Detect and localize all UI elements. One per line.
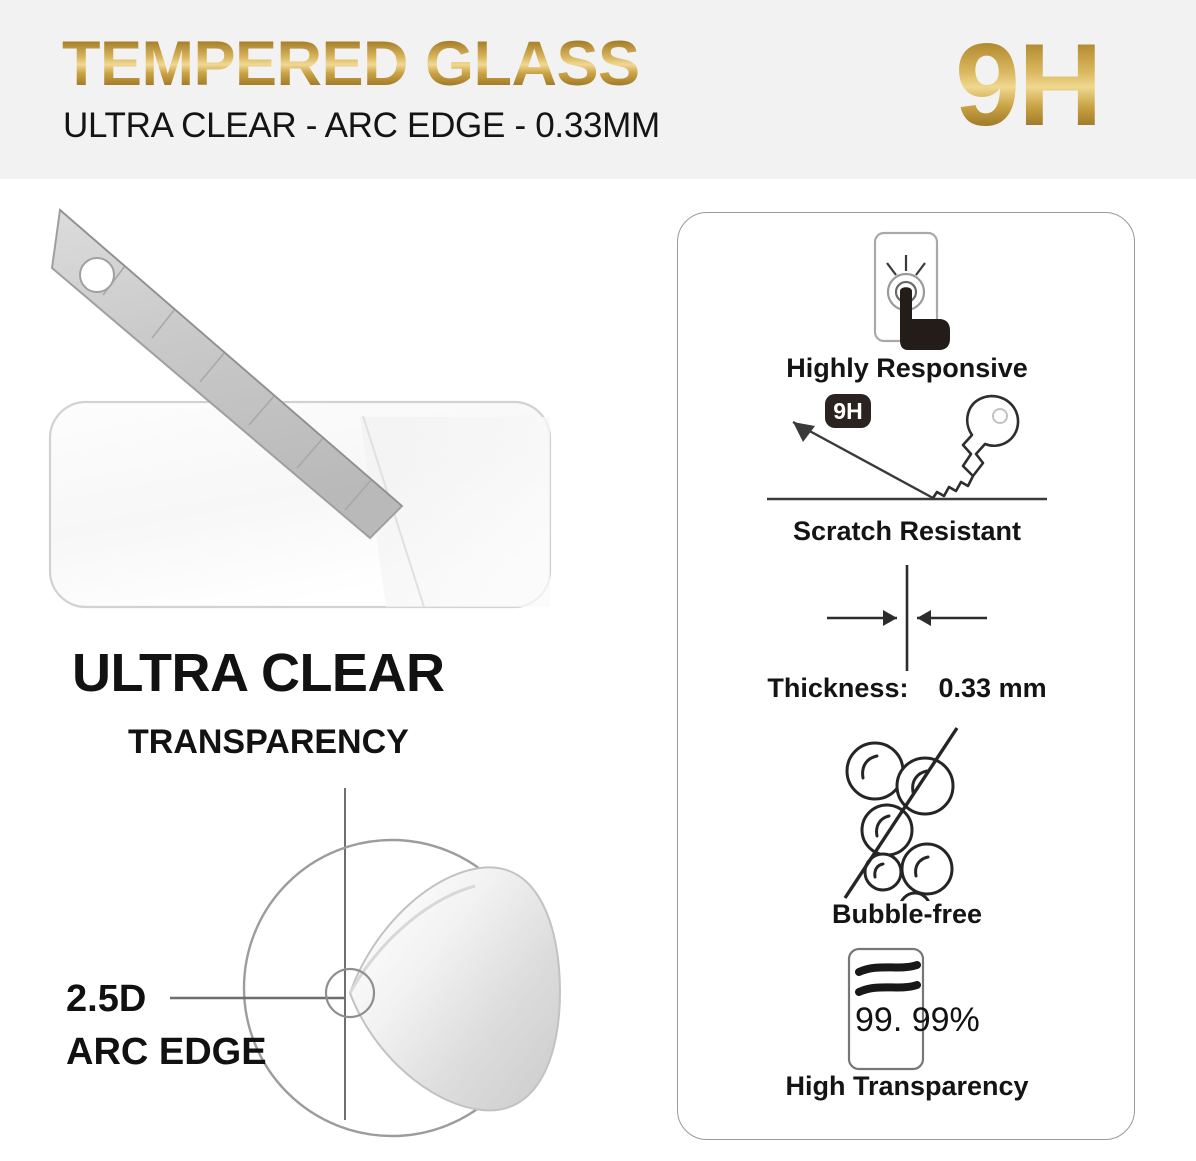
thickness-label-row: Thickness: 0.33 mm — [678, 673, 1136, 704]
header-banner: TEMPERED GLASS ULTRA CLEAR - ARC EDGE - … — [0, 0, 1196, 180]
feature-scratch-resistant: 9H Scratch Resistant — [678, 388, 1136, 545]
feature-bubble-free: Bubble-free — [678, 726, 1136, 928]
feature-highly-responsive: Highly Responsive — [678, 227, 1136, 382]
left-panel: ULTRA CLEAR TRANSPARENCY 2.5D ARC EDGE — [0, 180, 660, 1161]
feature-label: Highly Responsive — [678, 355, 1136, 382]
magnified-arc-edge-icon — [20, 780, 640, 1140]
touch-phone-icon — [847, 227, 967, 355]
blade-on-glass-icon — [30, 190, 630, 610]
feature-label: Bubble-free — [678, 901, 1136, 928]
thickness-arrows-icon — [797, 563, 1017, 673]
feature-label: Scratch Resistant — [678, 518, 1136, 545]
transparency-screen-icon: 99. 99% — [807, 945, 1007, 1073]
transparency-subheading: TRANSPARENCY — [128, 725, 409, 759]
scratch-badge-text: 9H — [833, 398, 862, 424]
thickness-value: 0.33 mm — [939, 673, 1047, 703]
feature-thickness: Thickness: 0.33 mm — [678, 563, 1136, 704]
features-panel: Highly Responsive 9H Scratch Resistant — [677, 212, 1135, 1140]
page-title: TEMPERED GLASS — [62, 33, 640, 96]
feature-label: High Transparency — [678, 1073, 1136, 1100]
thickness-label-prefix: Thickness: — [767, 673, 908, 703]
bubbles-crossed-out-icon — [817, 726, 997, 901]
feature-high-transparency: 99. 99% High Transparency — [678, 945, 1136, 1100]
ultra-clear-heading: ULTRA CLEAR — [72, 646, 444, 700]
transparency-percent-text: 99. 99% — [855, 1001, 980, 1039]
key-scratch-icon: 9H — [757, 388, 1057, 518]
page-subtitle: ULTRA CLEAR - ARC EDGE - 0.33MM — [63, 108, 660, 143]
hardness-rating-9h: 9H — [955, 26, 1101, 143]
arc-edge-label: ARC EDGE — [66, 1033, 267, 1071]
arc-edge-value: 2.5D — [66, 980, 146, 1018]
